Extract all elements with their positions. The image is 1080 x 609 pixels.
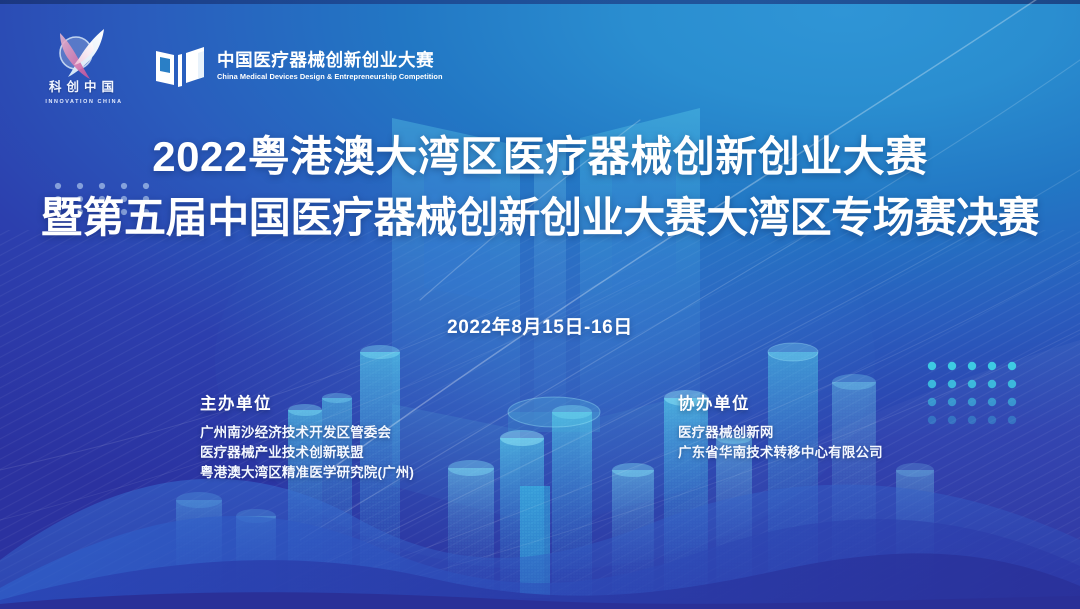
logo-competition[interactable]: 中国医疗器械创新创业大赛 China Medical Devices Desig…: [154, 43, 443, 89]
host-organizer-label: 主办单位: [200, 390, 414, 414]
open-book-door-mark: [154, 43, 206, 89]
poster-canvas: 科创中国 INNOVATION CHINA 中国医疗器械创新创业大赛 China…: [0, 0, 1080, 609]
cohost-organizer-label: 协办单位: [678, 390, 883, 414]
innovation-china-cn: 科创中国: [38, 76, 130, 95]
host-organizer-item: 粤港澳大湾区精准医学研究院(广州): [200, 463, 414, 483]
competition-title-cn: 中国医疗器械创新创业大赛: [217, 52, 443, 70]
host-organizer-block: 主办单位 广州南沙经济技术开发区管委会 医疗器械产业技术创新联盟 粤港澳大湾区精…: [200, 390, 414, 483]
host-organizer-item: 广州南沙经济技术开发区管委会: [200, 423, 414, 443]
page-title-line-2: 暨第五届中国医疗器械创新创业大赛大湾区专场赛决赛: [0, 195, 1080, 240]
innovation-china-en: INNOVATION CHINA: [38, 99, 130, 105]
event-date: 2022年8月15日-16日: [0, 312, 1080, 339]
header-logos: 科创中国 INNOVATION CHINA 中国医疗器械创新创业大赛 China…: [38, 27, 443, 105]
innovation-china-bird-mark: [46, 27, 122, 81]
competition-title-en: China Medical Devices Design & Entrepren…: [217, 73, 443, 80]
logo-innovation-china[interactable]: 科创中国 INNOVATION CHINA: [38, 27, 130, 105]
host-organizer-item: 医疗器械产业技术创新联盟: [200, 443, 414, 463]
page-title-line-1: 2022粤港澳大湾区医疗器械创新创业大赛: [0, 134, 1080, 179]
cohost-organizer-item: 广东省华南技术转移中心有限公司: [678, 443, 883, 463]
cohost-organizer-block: 协办单位 医疗器械创新网 广东省华南技术转移中心有限公司: [678, 390, 883, 463]
cohost-organizer-item: 医疗器械创新网: [678, 423, 883, 443]
main-titles: 2022粤港澳大湾区医疗器械创新创业大赛 暨第五届中国医疗器械创新创业大赛大湾区…: [0, 134, 1080, 241]
